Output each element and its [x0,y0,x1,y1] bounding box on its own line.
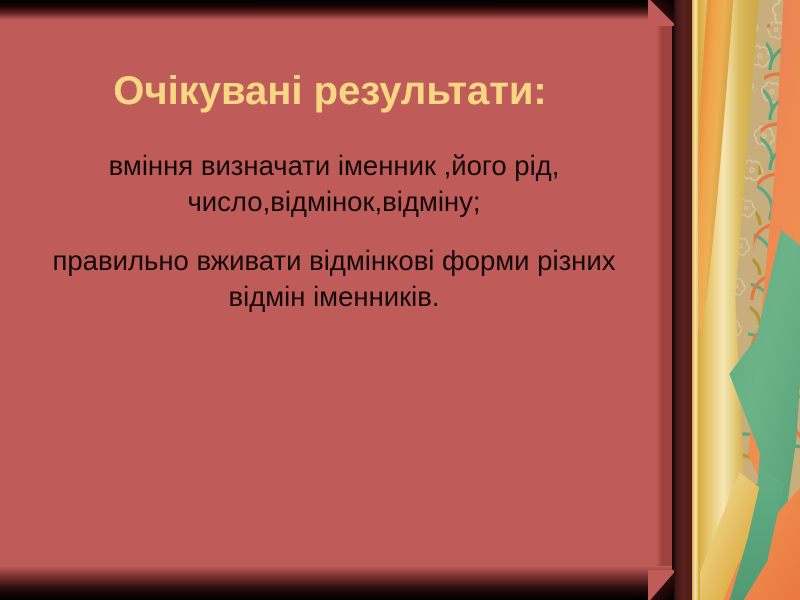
slide-body: вміння визначати іменник ,його рід, числ… [0,148,668,315]
content-panel: Очікувані результати: вміння визначати і… [0,0,672,600]
corner-fold-bottom [648,570,674,600]
right-bevel [656,0,672,600]
bottom-shadow-band [0,566,672,600]
top-shadow-band [0,0,672,20]
maroon-edge-strip [672,0,692,600]
body-paragraph-2: правильно вживати відмінкові форми різни… [34,243,634,316]
corner-fold-top [648,0,674,26]
body-paragraph-1: вміння визначати іменник ,його рід, числ… [0,148,668,221]
slide-title: Очікувані результати: [0,69,660,113]
ornamental-border [672,0,800,600]
slide-canvas: Очікувані результати: вміння визначати і… [0,0,800,600]
